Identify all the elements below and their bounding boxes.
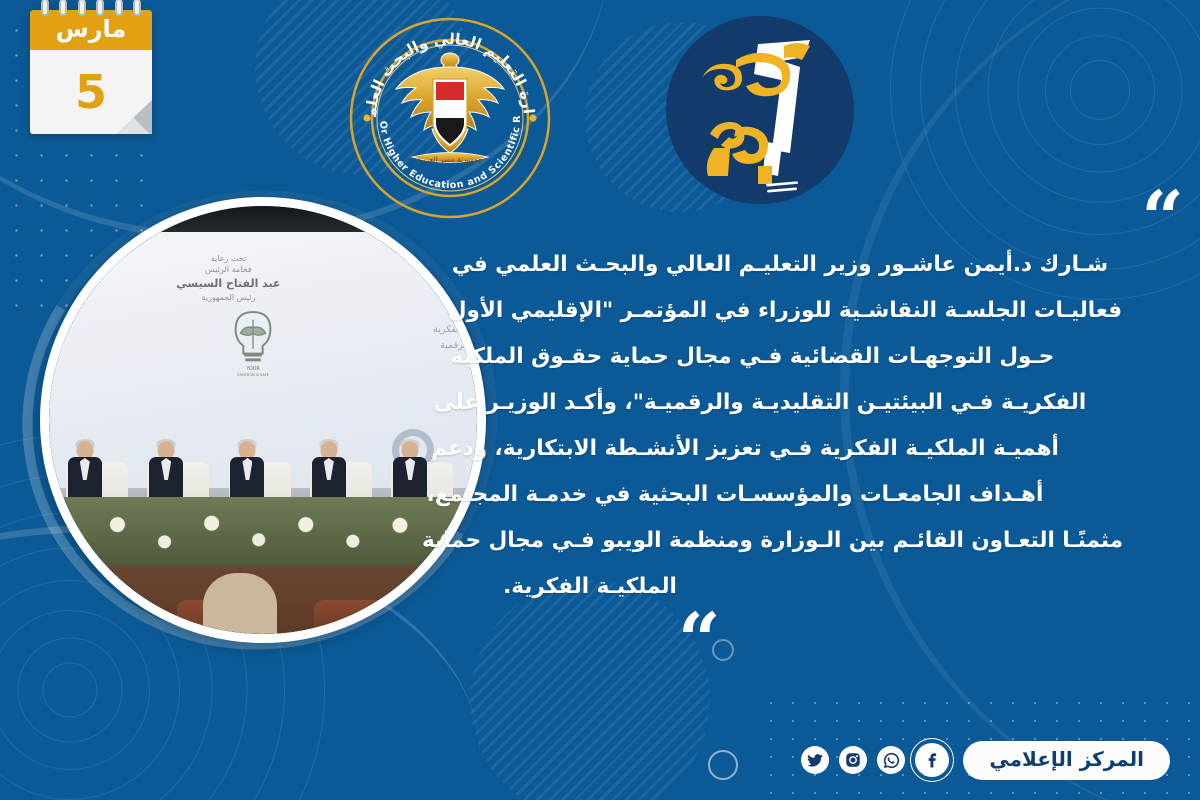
ministry-logo: وزارة التعليم العالي والبحث العلمي Minis…	[349, 17, 551, 219]
twitter-icon[interactable]	[801, 746, 829, 774]
hasad-ayam-logo	[666, 16, 854, 204]
calendar-header: مارس	[30, 10, 152, 50]
news-body-text: شـارك د.أيمن عاشـور وزير التعليـم العالي…	[420, 242, 1180, 610]
news-quote-block: “ شـارك د.أيمن عاشـور وزير التعليـم العا…	[420, 196, 1180, 666]
calendar-day-number: 5	[75, 69, 107, 115]
instagram-icon[interactable]	[839, 746, 867, 774]
quote-open-mark: “	[1141, 194, 1184, 246]
calendar-spiral-rings	[30, 0, 152, 15]
photo-audience-member	[203, 573, 277, 634]
quote-close-mark: “	[678, 616, 721, 668]
screen-text-line1: تحت رعاية	[147, 253, 310, 265]
photo-flower-row	[49, 497, 477, 565]
calendar-body: 5	[30, 50, 152, 134]
quote-line: حـول التوجهـات القضائية فـي مجال حماية ح…	[420, 334, 1180, 380]
date-calendar: مارس 5	[30, 6, 152, 134]
footer-bar: المركز الإعلامي	[800, 735, 1170, 785]
ring-outline-small	[708, 750, 738, 780]
whatsapp-icon[interactable]	[877, 746, 905, 774]
social-icon-row	[801, 743, 949, 777]
media-center-badge: المركز الإعلامي	[963, 741, 1170, 780]
calendar-page-fold	[116, 100, 152, 134]
facebook-icon[interactable]	[915, 743, 949, 777]
screen-text-line4: رئيس الجمهورية	[147, 292, 310, 304]
quote-line: أهميـة الملكيـة الفكرية فـي تعزيز الأنشـ…	[420, 426, 1180, 472]
svg-text:YOUR: YOUR	[245, 366, 260, 372]
screen-text-line2: فخامة الرئيس	[147, 264, 310, 276]
quote-line: الفكريـة فـي البيئتيـن التقليديـة والرقم…	[420, 380, 1180, 426]
svg-text:جمهورية مصر العربية: جمهورية مصر العربية	[417, 155, 483, 164]
quote-line: أهـداف الجامعـات والمؤسسـات البحثية في خ…	[420, 472, 1180, 518]
quote-line: الملكيـة الفكرية.	[420, 564, 1180, 610]
svg-text:CREATION IS SAFE: CREATION IS SAFE	[237, 373, 269, 377]
calendar-month-label: مارس	[56, 15, 127, 45]
quote-line: فعاليـات الجلسـة النقاشـية للوزراء في ال…	[420, 288, 1180, 334]
screen-text-line3: عبد الفتاح السيسي	[147, 276, 310, 292]
quote-line: مثمنًـا التعـاون القائـم بين الـوزارة وم…	[420, 518, 1180, 564]
poster-canvas: مارس 5 وزارة التعليم العالي والبحث	[0, 0, 1200, 800]
quote-line: شـارك د.أيمن عاشـور وزير التعليـم العالي…	[420, 242, 1180, 288]
photo-conference-emblem: YOUR CREATION IS SAFE	[224, 306, 282, 378]
